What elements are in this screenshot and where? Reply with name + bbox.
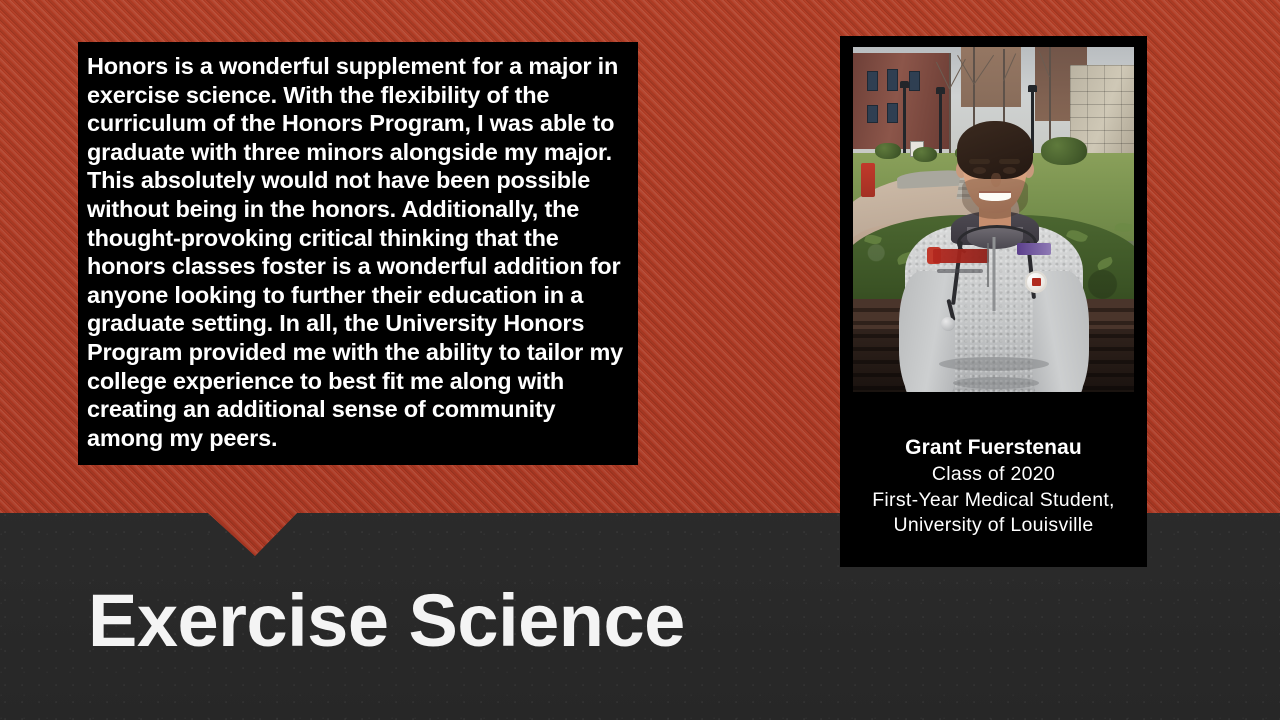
fleece-zipper [992, 237, 995, 311]
subject-mouth [979, 193, 1011, 201]
photo-window [867, 71, 878, 91]
fleece-logo-subtext [937, 269, 983, 273]
profile-caption: Grant Fuerstenau Class of 2020 First-Yea… [840, 434, 1147, 539]
profile-card: Grant Fuerstenau Class of 2020 First-Yea… [840, 36, 1147, 567]
slide-title: Exercise Science [88, 578, 685, 664]
photo-hedge [875, 143, 901, 159]
subject-arm-left [899, 271, 955, 392]
photo-window [867, 105, 878, 123]
subject-brow-left [969, 159, 990, 164]
subject-fold [953, 377, 1039, 389]
testimonial-quote-text: Honors is a wonderful supplement for a m… [87, 52, 624, 452]
subject-nose [991, 173, 1001, 187]
testimonial-quote-box: Honors is a wonderful supplement for a m… [78, 42, 638, 465]
stethoscope-bell [941, 317, 955, 331]
presentation-slide: Honors is a wonderful supplement for a m… [0, 0, 1280, 720]
profile-role-line-2: University of Louisville [840, 513, 1147, 539]
profile-class-year: Class of 2020 [840, 462, 1147, 488]
photo-lamp-head [1028, 85, 1037, 92]
subject-eye-left [973, 167, 986, 174]
fleece-pocket-seam [987, 243, 989, 287]
photo-lamp-head [900, 81, 909, 88]
profile-name: Grant Fuerstenau [840, 434, 1147, 462]
photo-window [909, 71, 920, 91]
photo-lamp-head [936, 87, 945, 94]
subject-fold [939, 357, 1049, 371]
photo-window [887, 103, 898, 123]
photo-sign [861, 163, 875, 197]
photo-window [887, 69, 898, 91]
subject-hair [957, 121, 1033, 179]
fleece-button-pin-graphic [1032, 278, 1041, 286]
fleece-logo-wordmark [933, 249, 989, 263]
photo-subject [899, 121, 1089, 392]
profile-role-line-1: First-Year Medical Student, [840, 488, 1147, 514]
fleece-brand-label [1017, 243, 1051, 255]
profile-photo [853, 47, 1134, 392]
subject-eye-right [1003, 167, 1016, 174]
subject-brow-right [999, 159, 1020, 164]
